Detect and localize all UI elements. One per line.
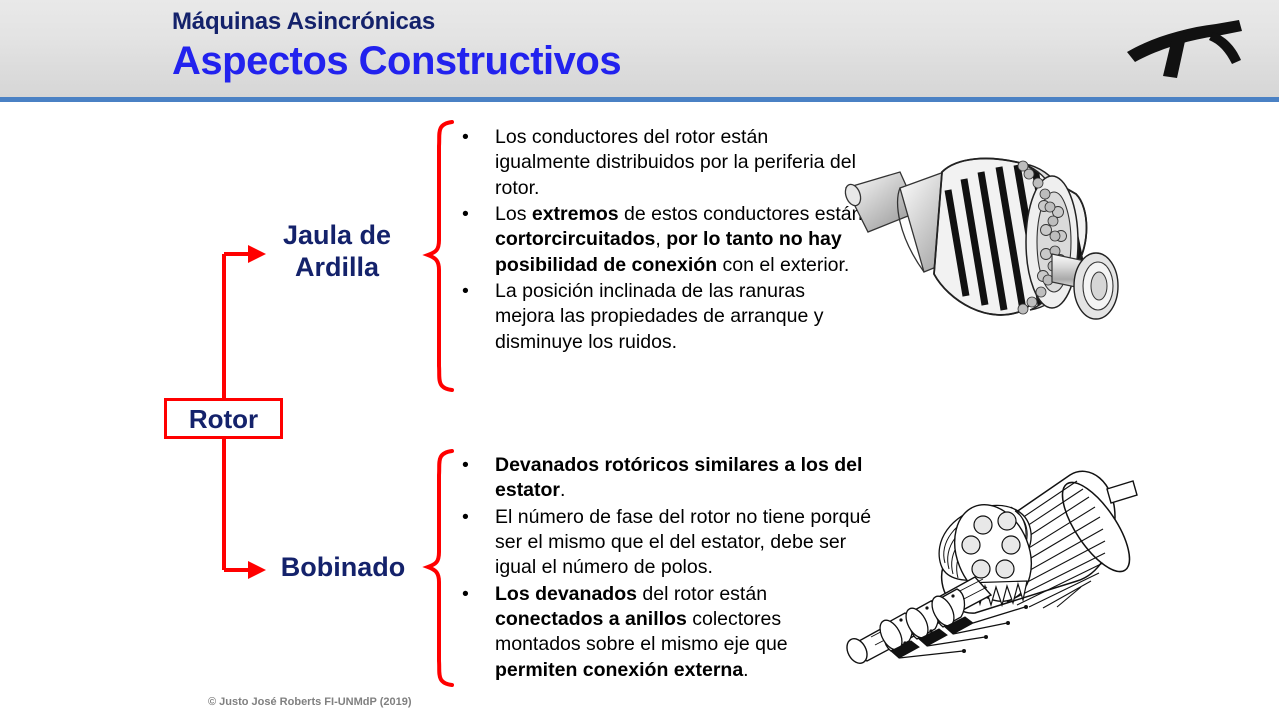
list-item: • El número de fase del rotor no tiene p… (457, 505, 872, 581)
wound-rotor-slip-rings-illustration (815, 455, 1140, 690)
bullet-glyph-icon: • (462, 453, 469, 478)
header-divider-rule (0, 97, 1279, 102)
page-title: Aspectos Constructivos (172, 39, 621, 84)
slide-header: Máquinas Asincrónicas Aspectos Construct… (0, 0, 1279, 97)
bullet-list-jaula-de-ardilla: • Los conductores del rotor están igualm… (457, 125, 867, 356)
list-item-text: Los extremos de estos conductores están … (495, 203, 862, 276)
diagram-branch-label-jaula-de-ardilla: Jaula de Ardilla (262, 220, 412, 283)
unmdp-engineering-logo-icon (1121, 12, 1251, 84)
list-item: • Los conductores del rotor están igualm… (457, 125, 867, 201)
list-item-text: Devanados rotóricos similares a los del … (495, 454, 862, 501)
list-item: • Devanados rotóricos similares a los de… (457, 453, 872, 504)
footer-credit: © Justo José Roberts FI-UNMdP (2019) (208, 696, 412, 708)
list-item-text: Los devanados del rotor están conectados… (495, 583, 788, 681)
list-item-text: Los conductores del rotor están igualmen… (495, 126, 856, 199)
list-item: • Los devanados del rotor están conectad… (457, 582, 872, 683)
branch-label-line-1: Jaula de (262, 220, 412, 252)
list-item-text: La posición inclinada de las ranuras mej… (495, 280, 823, 353)
diagram-branch-label-bobinado: Bobinado (262, 552, 424, 584)
squirrel-cage-rotor-illustration (838, 150, 1128, 355)
header-subtitle: Máquinas Asincrónicas (172, 8, 435, 36)
list-item: • Los extremos de estos conductores está… (457, 202, 867, 278)
diagram-root-label: Rotor (189, 406, 258, 432)
bullet-glyph-icon: • (462, 202, 469, 227)
branch-label-line-2: Ardilla (262, 252, 412, 284)
list-item: • La posición inclinada de las ranuras m… (457, 279, 867, 355)
bullet-list-bobinado: • Devanados rotóricos similares a los de… (457, 453, 872, 684)
bullet-glyph-icon: • (462, 582, 469, 607)
bullet-glyph-icon: • (462, 125, 469, 150)
diagram-root-node-rotor: Rotor (164, 398, 283, 439)
bullet-glyph-icon: • (462, 505, 469, 530)
bullet-glyph-icon: • (462, 279, 469, 304)
